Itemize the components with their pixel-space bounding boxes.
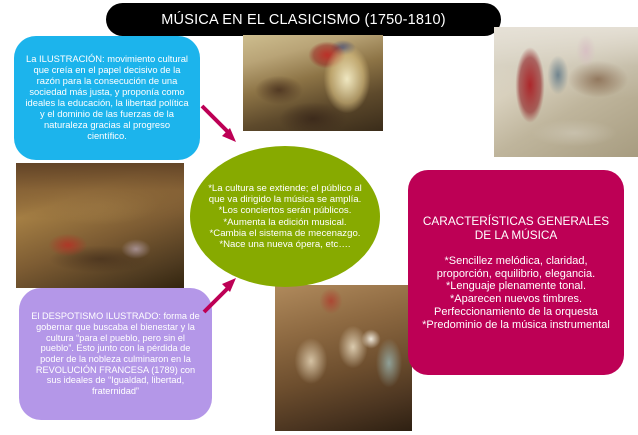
slide-title-bar: MÚSICA EN EL CLASICISMO (1750-1810) xyxy=(106,3,501,36)
painting-liberty-leading-the-people xyxy=(243,35,383,131)
callout-caracteristicas-heading: CARACTERÍSTICAS GENERALES DE LA MÚSICA xyxy=(420,214,612,242)
callout-cultura-text: *La cultura se extiende; el público al q… xyxy=(204,183,366,250)
arrow-up-right-icon xyxy=(200,274,244,318)
arrow-down-right-icon xyxy=(198,102,244,148)
painting-enlightenment-salon-assembly xyxy=(16,163,184,288)
painting-classical-string-quartet xyxy=(275,285,412,431)
slide-canvas: MÚSICA EN EL CLASICISMO (1750-1810) La I… xyxy=(0,0,638,435)
callout-despotismo: El DESPOTISMO ILUSTRADO: forma de gobern… xyxy=(19,288,212,420)
page-title: MÚSICA EN EL CLASICISMO (1750-1810) xyxy=(161,12,445,28)
painting-mozart-family-harpsichord xyxy=(494,27,638,157)
callout-ilustracion-text: La ILUSTRACIÓN: movimiento cultural que … xyxy=(23,54,191,141)
callout-ilustracion: La ILUSTRACIÓN: movimiento cultural que … xyxy=(14,36,200,160)
callout-cultura: *La cultura se extiende; el público al q… xyxy=(190,146,380,287)
callout-caracteristicas: CARACTERÍSTICAS GENERALES DE LA MÚSICA *… xyxy=(408,170,624,375)
callout-despotismo-text: El DESPOTISMO ILUSTRADO: forma de gobern… xyxy=(29,311,202,396)
callout-caracteristicas-text: *Sencillez melódica, claridad, proporció… xyxy=(420,255,612,332)
